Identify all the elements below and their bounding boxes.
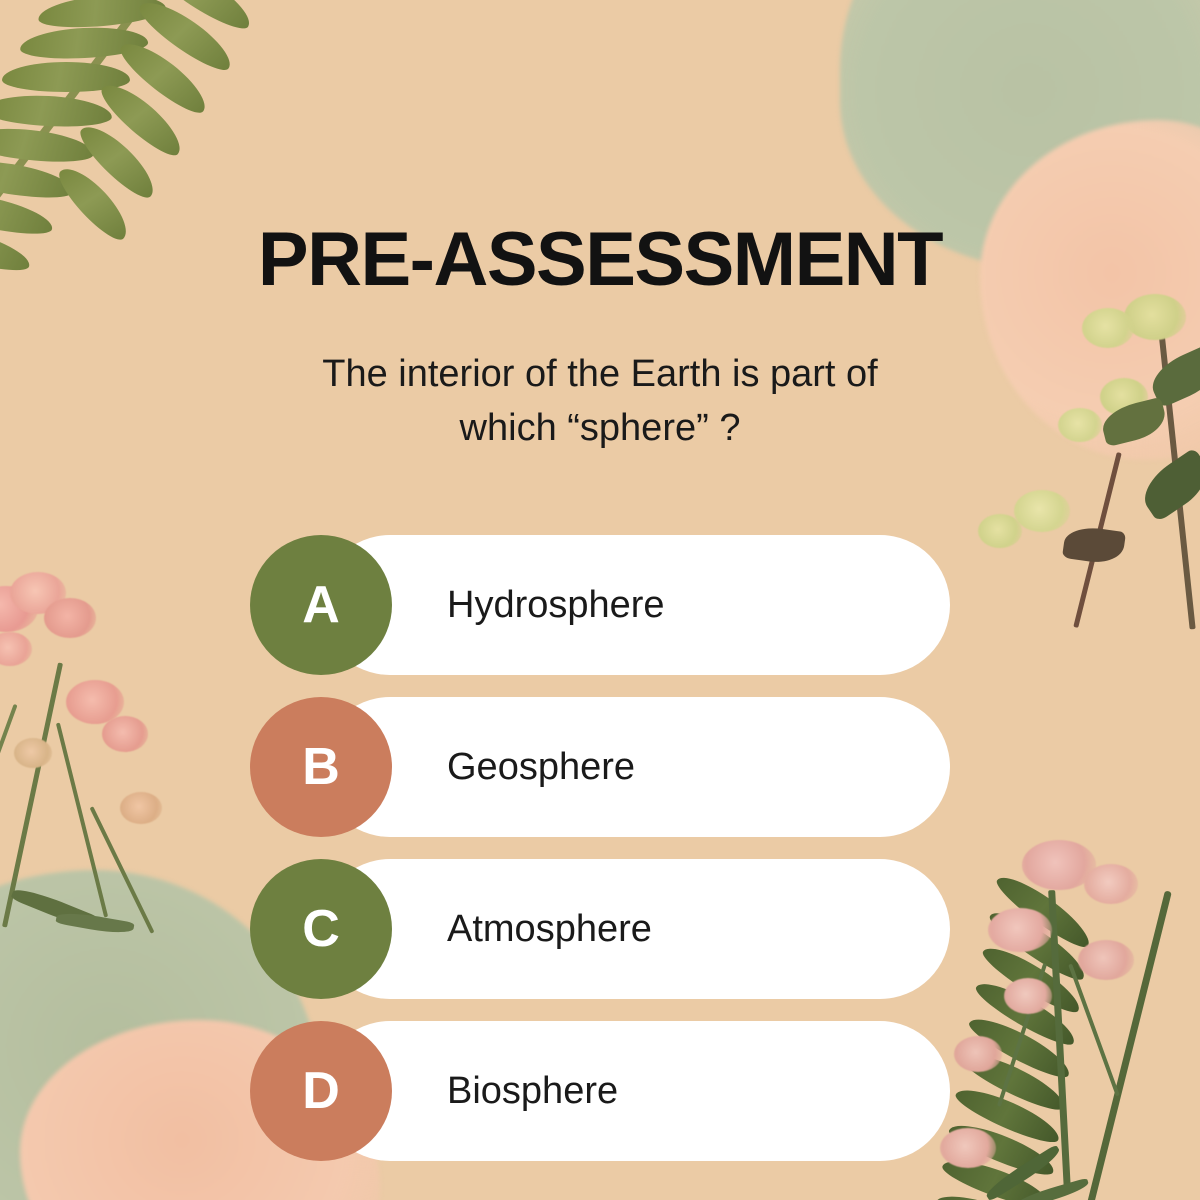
flower-leaf [1134,447,1200,522]
fern-leaflet [73,117,163,205]
fern-leaflet [2,62,130,92]
fern-leaflet [133,0,239,78]
fern-leaflet [0,93,113,130]
answer-badge-a[interactable]: A [250,535,392,675]
answer-letter-a: A [302,579,340,631]
answer-badge-b[interactable]: B [250,697,392,837]
answer-letter-b: B [302,741,340,793]
quiz-card: PRE-ASSESSMENT The interior of the Earth… [0,0,1200,1200]
question-line-2: which “sphere” ? [460,407,741,449]
answer-label-d: Biosphere [447,1021,618,1161]
answer-label-b: Geosphere [447,697,635,837]
fern-leaflet [55,0,186,3]
answer-label-c: Atmosphere [447,859,652,999]
flower-bloom [1124,294,1186,340]
answer-option-d[interactable]: D Biosphere [0,1021,1200,1161]
answer-letter-d: D [302,1065,340,1117]
page-title: PRE-ASSESSMENT [0,222,1200,298]
flower-bloom [1058,408,1102,442]
fern-leaflet [114,33,214,121]
flower-bloom [1100,378,1148,416]
answer-option-a[interactable]: A Hydrosphere [0,535,1200,675]
answer-options-list: A Hydrosphere B Geosphere C Atmosphere D… [0,535,1200,1183]
fern-leaflet [0,154,76,204]
flower-leaf [1099,397,1170,447]
fern-leaflet [148,0,257,37]
answer-badge-c[interactable]: C [250,859,392,999]
flower-bloom [1014,490,1070,532]
answer-option-b[interactable]: B Geosphere [0,697,1200,837]
fern-leaflet [37,0,167,32]
answer-label-a: Hydrosphere [447,535,665,675]
fern-leaflet [19,25,148,62]
fern-leaflet [94,75,189,163]
answer-option-c[interactable]: C Atmosphere [0,859,1200,999]
answer-badge-d[interactable]: D [250,1021,392,1161]
flower-leaf [1145,343,1200,408]
question-line-1: The interior of the Earth is part of [322,353,878,395]
flower-bloom [1082,308,1134,348]
answer-letter-c: C [302,903,340,955]
question-text: The interior of the Earth is part of whi… [240,348,960,456]
fern-leaflet [0,123,95,166]
fern-leaflet [933,1187,1048,1200]
answer-pill-d[interactable] [320,1021,950,1161]
